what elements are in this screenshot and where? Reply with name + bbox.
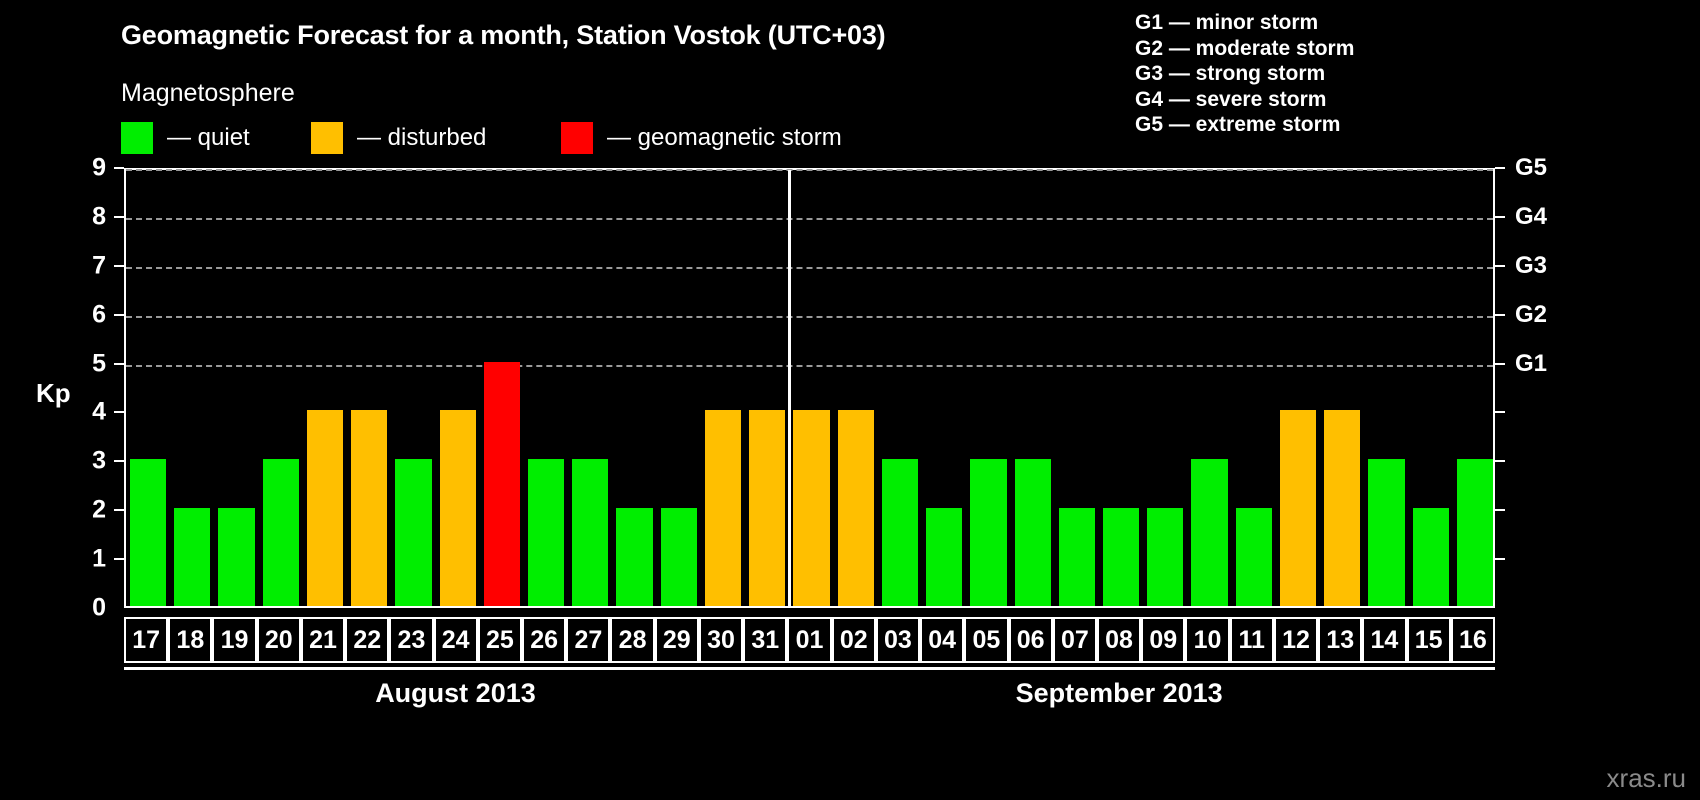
y-tick-label-6: 6 [66,300,106,329]
day-label-09[interactable]: 09 [1141,617,1185,663]
gridline-kp-7 [126,267,1493,269]
g-tick-label-g1: G1 [1515,350,1547,378]
month-divider-line [788,170,791,606]
day-label-25[interactable]: 25 [478,617,522,663]
y-tick-mark-4 [114,411,124,413]
bar-day-25[interactable] [484,362,520,606]
bar-day-13[interactable] [1324,410,1360,606]
y-tick-mark-3 [114,460,124,462]
bar-day-18[interactable] [174,508,210,606]
bar-day-03[interactable] [882,459,918,606]
y-tick-mark-8 [114,216,124,218]
day-label-26[interactable]: 26 [522,617,566,663]
bar-day-09[interactable] [1147,508,1183,606]
y-tick-label-1: 1 [66,545,106,574]
day-label-10[interactable]: 10 [1185,617,1229,663]
bar-day-21[interactable] [307,410,343,606]
gridline-kp-9 [126,169,1493,171]
bar-day-12[interactable] [1280,410,1316,606]
storm-scale-row-g3: G3 — strong storm [1135,61,1354,87]
day-label-13[interactable]: 13 [1318,617,1362,663]
bar-day-14[interactable] [1368,459,1404,606]
day-label-30[interactable]: 30 [699,617,743,663]
g-axis-tick-mark-kp-7 [1495,265,1505,267]
bar-day-30[interactable] [705,410,741,606]
day-label-16[interactable]: 16 [1451,617,1495,663]
day-label-17[interactable]: 17 [124,617,168,663]
day-label-05[interactable]: 05 [964,617,1008,663]
g-axis-tick-mark-kp-1 [1495,558,1505,560]
y-tick-mark-5 [114,363,124,365]
legend-quiet: — quiet [121,122,250,154]
y-tick-label-7: 7 [66,251,106,280]
day-label-11[interactable]: 11 [1230,617,1274,663]
day-label-06[interactable]: 06 [1009,617,1053,663]
bar-day-17[interactable] [130,459,166,606]
gridline-kp-6 [126,316,1493,318]
page-title: Geomagnetic Forecast for a month, Statio… [121,20,885,51]
watermark: xras.ru [1607,763,1686,794]
gridline-kp-5 [126,365,1493,367]
bar-day-16[interactable] [1457,459,1493,606]
storm-scale-row-g1: G1 — minor storm [1135,10,1354,36]
day-label-23[interactable]: 23 [389,617,433,663]
bar-day-31[interactable] [749,410,785,606]
day-label-18[interactable]: 18 [168,617,212,663]
bar-day-08[interactable] [1103,508,1139,606]
legend-storm: — geomagnetic storm [561,122,842,154]
y-tick-mark-6 [114,314,124,316]
bar-day-11[interactable] [1236,508,1272,606]
y-tick-mark-7 [114,265,124,267]
y-tick-label-0: 0 [66,594,106,623]
day-label-01[interactable]: 01 [787,617,831,663]
y-tick-mark-9 [114,167,124,169]
y-tick-mark-2 [114,509,124,511]
y-tick-mark-1 [114,558,124,560]
bar-day-27[interactable] [572,459,608,606]
bar-day-19[interactable] [218,508,254,606]
legend-disturbed-text: — disturbed [357,124,486,152]
month-label-0: August 2013 [375,678,536,709]
day-label-04[interactable]: 04 [920,617,964,663]
legend-disturbed-swatch [311,122,343,154]
day-label-14[interactable]: 14 [1362,617,1406,663]
day-label-27[interactable]: 27 [566,617,610,663]
y-tick-label-9: 9 [66,154,106,183]
g-axis-tick-mark-kp-8 [1495,216,1505,218]
g-axis-tick-mark-kp-3 [1495,460,1505,462]
y-tick-label-2: 2 [66,496,106,525]
storm-scale-row-g2: G2 — moderate storm [1135,36,1354,62]
gridline-kp-8 [126,218,1493,220]
y-tick-label-3: 3 [66,447,106,476]
day-label-03[interactable]: 03 [876,617,920,663]
day-label-19[interactable]: 19 [212,617,256,663]
y-tick-label-4: 4 [66,398,106,427]
storm-scale-row-g5: G5 — extreme storm [1135,112,1354,138]
bar-day-20[interactable] [263,459,299,606]
plot-area [124,168,1495,608]
bar-day-02[interactable] [838,410,874,606]
g-tick-label-g5: G5 [1515,154,1547,182]
g-axis-tick-mark-kp-2 [1495,509,1505,511]
day-label-12[interactable]: 12 [1274,617,1318,663]
legend-storm-swatch [561,122,593,154]
storm-scale-row-g4: G4 — severe storm [1135,87,1354,113]
legend-disturbed: — disturbed [311,122,486,154]
month-label-1: September 2013 [1016,678,1223,709]
g-axis-tick-mark-kp-5 [1495,363,1505,365]
day-label-24[interactable]: 24 [434,617,478,663]
g-tick-label-g4: G4 [1515,203,1547,231]
day-label-20[interactable]: 20 [257,617,301,663]
bar-day-07[interactable] [1059,508,1095,606]
storm-scale-legend: G1 — minor stormG2 — moderate stormG3 — … [1135,10,1354,138]
day-label-07[interactable]: 07 [1053,617,1097,663]
legend-storm-text: — geomagnetic storm [607,124,842,152]
day-label-02[interactable]: 02 [832,617,876,663]
axis-baseline [124,667,1495,670]
bar-day-29[interactable] [661,508,697,606]
g-tick-label-g2: G2 [1515,301,1547,329]
bar-day-04[interactable] [926,508,962,606]
bar-day-15[interactable] [1413,508,1449,606]
y-axis-title: Kp [36,378,71,409]
bar-day-05[interactable] [970,459,1006,606]
day-label-29[interactable]: 29 [655,617,699,663]
day-label-28[interactable]: 28 [610,617,654,663]
day-label-31[interactable]: 31 [743,617,787,663]
day-label-15[interactable]: 15 [1407,617,1451,663]
bar-day-01[interactable] [793,410,829,606]
bar-day-23[interactable] [395,459,431,606]
day-label-22[interactable]: 22 [345,617,389,663]
y-tick-label-8: 8 [66,202,106,231]
legend-quiet-text: — quiet [167,124,250,152]
bar-day-10[interactable] [1191,459,1227,606]
bar-day-22[interactable] [351,410,387,606]
day-label-21[interactable]: 21 [301,617,345,663]
bar-day-28[interactable] [616,508,652,606]
magnetosphere-label: Magnetosphere [121,79,295,108]
g-axis-tick-mark-kp-6 [1495,314,1505,316]
bar-day-26[interactable] [528,459,564,606]
g-axis-tick-mark-kp-4 [1495,411,1505,413]
bar-day-24[interactable] [440,410,476,606]
legend-quiet-swatch [121,122,153,154]
day-label-08[interactable]: 08 [1097,617,1141,663]
bar-day-06[interactable] [1015,459,1051,606]
g-axis-tick-mark-kp-9 [1495,167,1505,169]
y-tick-label-5: 5 [66,349,106,378]
g-tick-label-g3: G3 [1515,252,1547,280]
